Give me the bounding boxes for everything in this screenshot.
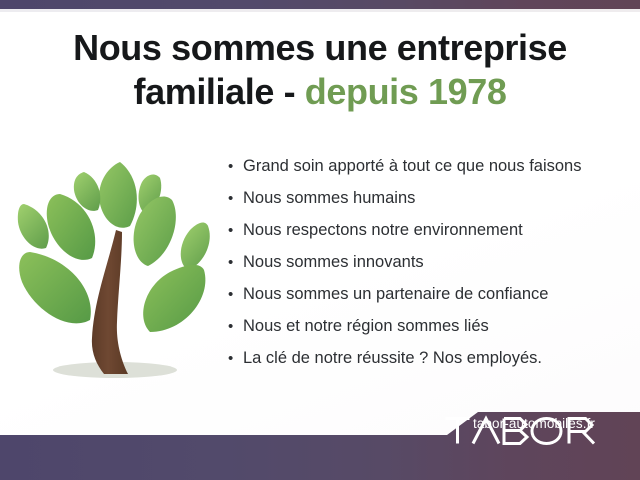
bullet-icon: • bbox=[228, 183, 243, 215]
bullet-icon: • bbox=[228, 151, 243, 183]
bullet-icon: • bbox=[228, 311, 243, 343]
slide-canvas: Nous sommes une entreprise familiale - d… bbox=[0, 0, 640, 480]
bullet-icon: • bbox=[228, 343, 243, 375]
top-accent-bar bbox=[0, 0, 640, 9]
page-title-line-1: Nous sommes une entreprise bbox=[0, 26, 640, 70]
tree-illustration bbox=[12, 152, 220, 388]
page-title: Nous sommes une entreprise familiale - d… bbox=[0, 26, 640, 114]
list-item-label: Nous sommes humains bbox=[243, 182, 628, 214]
page-title-line-2: familiale - depuis 1978 bbox=[0, 70, 640, 114]
list-item-label: Nous sommes innovants bbox=[243, 246, 628, 278]
top-accent-bar-shine bbox=[0, 9, 640, 12]
list-item-label: Nous sommes un partenaire de confiance bbox=[243, 278, 628, 310]
benefits-list: • Grand soin apporté à tout ce que nous … bbox=[228, 150, 628, 374]
footer-band: tabor-automobiles.fr bbox=[0, 400, 640, 480]
brand-logo[interactable]: tabor-automobiles.fr bbox=[444, 414, 624, 432]
page-title-accent: depuis 1978 bbox=[305, 71, 507, 112]
bullet-icon: • bbox=[228, 215, 243, 247]
list-item: • Nous et notre région sommes liés bbox=[228, 310, 628, 342]
list-item: • La clé de notre réussite ? Nos employé… bbox=[228, 342, 628, 374]
list-item-label: La clé de notre réussite ? Nos employés. bbox=[243, 342, 628, 374]
list-item-label: Nous et notre région sommes liés bbox=[243, 310, 628, 342]
page-title-line-2-main: familiale - bbox=[134, 71, 305, 112]
bullet-icon: • bbox=[228, 247, 243, 279]
bullet-icon: • bbox=[228, 279, 243, 311]
list-item: • Nous sommes un partenaire de confiance bbox=[228, 278, 628, 310]
list-item-label: Grand soin apporté à tout ce que nous fa… bbox=[243, 150, 628, 182]
list-item: • Nous sommes innovants bbox=[228, 246, 628, 278]
list-item: • Grand soin apporté à tout ce que nous … bbox=[228, 150, 628, 182]
list-item-label: Nous respectons notre environnement bbox=[243, 214, 628, 246]
tree-trunk bbox=[92, 230, 128, 374]
list-item: • Nous respectons notre environnement bbox=[228, 214, 628, 246]
list-item: • Nous sommes humains bbox=[228, 182, 628, 214]
